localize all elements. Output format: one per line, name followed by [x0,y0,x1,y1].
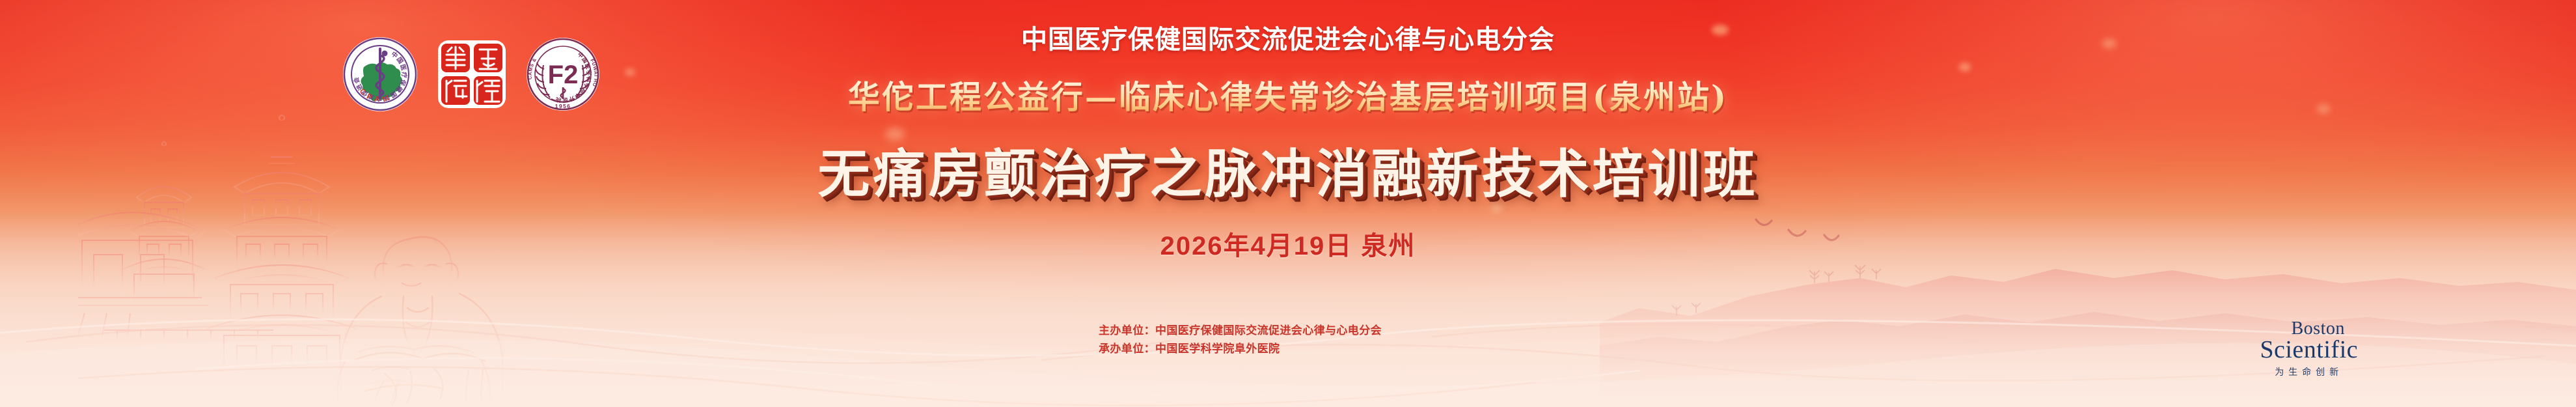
date-location: 2026年4月19日 泉州 [1160,225,1416,262]
bsx-line2: Scientific [2260,337,2358,362]
host-organizer: 主办单位：中国医疗保健国际交流促进会心律与心电分会 [1099,322,1382,340]
conference-banner: 中国医疗保健国际交流促进会 CPAM [0,0,2576,407]
page-title: 无痛房颤治疗之脉冲消融新技术培训班 [818,132,1759,208]
boston-scientific-logo: Boston Scientific 为生命创新 [2260,320,2358,378]
program-subtitle: 华佗工程公益行—临床心律失常诊治基层培训项目(泉州站) [848,72,1728,118]
bsx-tagline: 为生命创新 [2260,365,2358,378]
title-stack: 中国医疗保健国际交流促进会心律与心电分会 华佗工程公益行—临床心律失常诊治基层培… [0,0,2576,262]
organization-line: 中国医疗保健国际交流促进会心律与心电分会 [1021,18,1555,56]
host-undertaker: 承办单位：中国医学科学院阜外医院 [1099,340,1382,358]
bsx-line1: Boston [2278,320,2358,337]
host-units: 主办单位：中国医疗保健国际交流促进会心律与心电分会 承办单位：中国医学科学院阜外… [1099,322,1382,358]
